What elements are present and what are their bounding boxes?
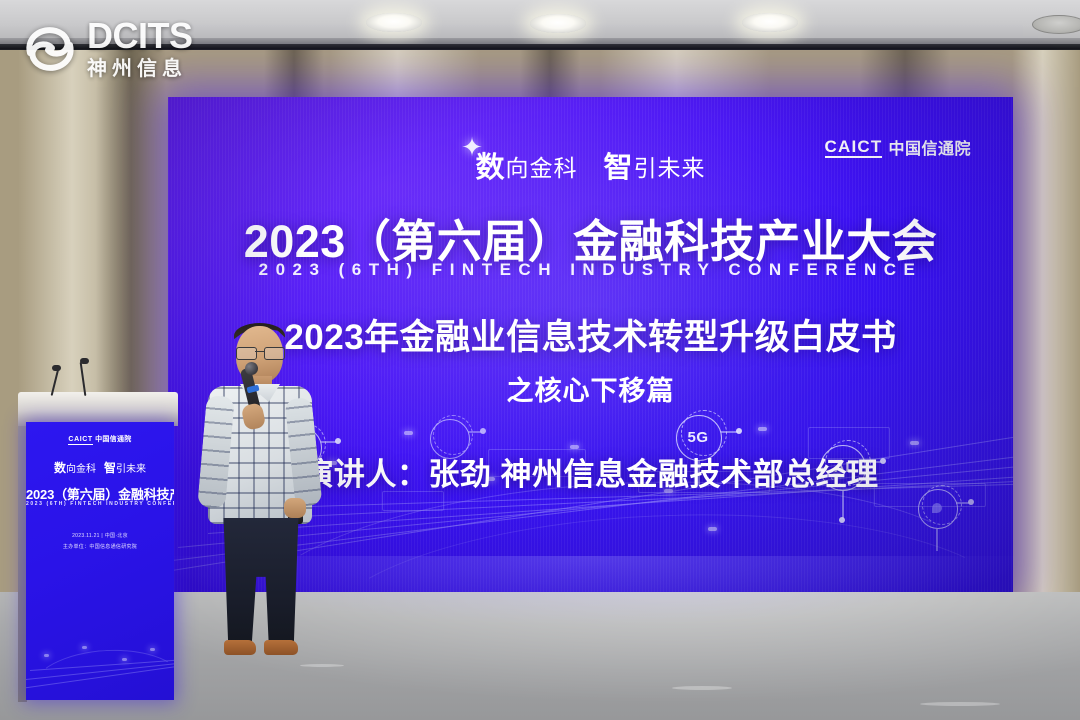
person-shoe bbox=[224, 640, 256, 655]
podium-caict-name-cn: 中国信通院 bbox=[95, 436, 132, 443]
podium-tagline-part1-rest: 向金科 bbox=[66, 464, 96, 475]
podium-front-panel: CAICT 中国信通院 数向金科智引未来 2023（第六届）金融科技产业大会 2… bbox=[26, 422, 174, 700]
podium-conference-title-en: 2023 (6TH) FINTECH INDUSTRY CONFERENCE bbox=[26, 501, 174, 507]
event-tagline: ✦ 数向金科智引未来 bbox=[168, 144, 1013, 186]
downlight-icon bbox=[366, 13, 422, 32]
dcits-watermark: DCITS 神州信息 bbox=[22, 18, 193, 79]
podium-grid-art bbox=[26, 610, 174, 700]
conference-title-en: 2023 (6TH) FINTECH INDUSTRY CONFERENCE bbox=[168, 260, 1013, 280]
speaker-person bbox=[196, 326, 324, 666]
dcits-brand-en: DCITS bbox=[87, 18, 193, 54]
person-right-hand bbox=[284, 498, 306, 518]
sparkle-icon: ✦ bbox=[459, 134, 485, 160]
podium-top-surface bbox=[18, 392, 178, 426]
person-legs bbox=[222, 518, 300, 646]
podium-tagline-part2-bold: 智 bbox=[104, 461, 116, 475]
glasses-icon bbox=[236, 347, 283, 358]
lectern-podium: CAICT 中国信通院 数向金科智引未来 2023（第六届）金融科技产业大会 2… bbox=[18, 392, 178, 700]
dcits-swirl-logo-icon bbox=[22, 23, 78, 75]
tech-icon-node bbox=[918, 489, 962, 533]
ceiling-vent-icon bbox=[1032, 15, 1080, 34]
conference-photo-scene: 5G AI CAICT 中国信通院 bbox=[0, 0, 1080, 720]
floor-scuff bbox=[672, 686, 732, 690]
tagline-part2-bold: 智 bbox=[604, 152, 634, 184]
podium-caict-abbr: CAICT bbox=[68, 436, 92, 445]
person-shoe bbox=[264, 640, 298, 655]
podium-organizer-line: 主办单位：中国信息通信研究院 bbox=[26, 543, 174, 550]
podium-tagline-part1-bold: 数 bbox=[54, 461, 66, 475]
podium-tagline-part2-rest: 引未来 bbox=[116, 464, 146, 475]
floor-scuff bbox=[920, 702, 1000, 706]
downlight-icon bbox=[742, 13, 798, 32]
tagline-part2-rest: 引未来 bbox=[634, 155, 706, 181]
podium-mic-head-icon bbox=[52, 365, 61, 371]
podium-caict-logo: CAICT 中国信通院 bbox=[26, 434, 174, 444]
podium-tagline: 数向金科智引未来 bbox=[26, 459, 174, 477]
podium-mic-head-icon bbox=[80, 358, 89, 364]
podium-date-location: 2023.11.21 | 中国·北京 bbox=[26, 532, 174, 539]
downlight-icon bbox=[530, 14, 586, 33]
dcits-brand-cn: 神州信息 bbox=[87, 59, 193, 79]
tagline-part1-rest: 向金科 bbox=[506, 155, 578, 181]
